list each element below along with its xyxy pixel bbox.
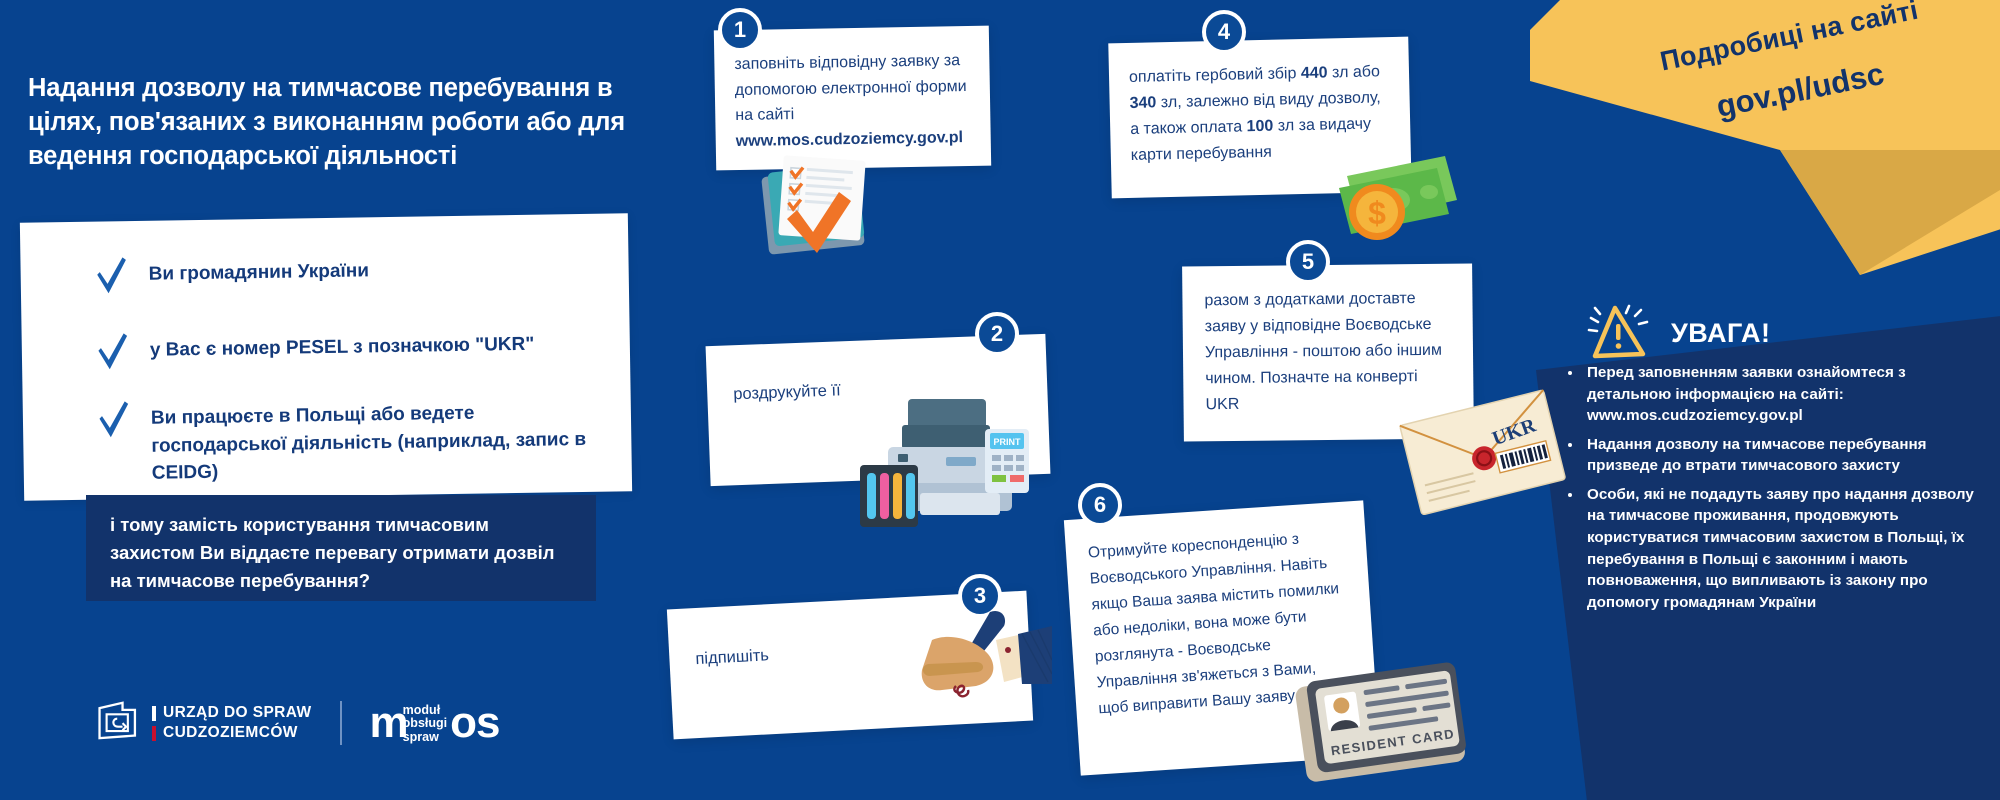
logo-bar: URZĄD DO SPRAW CUDZOZIEMCÓW m moduł obsł… (96, 700, 499, 746)
mos-logo-stack-1: moduł (403, 704, 447, 718)
attention-title: УВАГА! (1671, 318, 1771, 349)
attention-bullet-list: Перед заповненням заявки ознайомтеся з д… (1565, 362, 1990, 620)
step-badge-6: 6 (1078, 483, 1122, 527)
checklist-item: у Вас є номер PESEL з позначкою "UKR" (96, 323, 617, 376)
resident-card-icon: RESIDENT CARD (1290, 660, 1475, 785)
step-badge-1: 1 (718, 8, 762, 52)
page-title: Надання дозволу на тимчасове перебування… (28, 72, 628, 174)
step-badge-2: 2 (975, 312, 1019, 356)
mos-logo-m: m (370, 705, 407, 741)
step-badge-5: 5 (1286, 240, 1330, 284)
checkmark-icon (96, 331, 151, 377)
printer-icon: PRINT (860, 395, 1040, 530)
mos-logo: m moduł obsługi spraw os (370, 702, 500, 745)
checkmark-icon (94, 255, 149, 301)
envelope-ukr-icon: UKR (1390, 385, 1570, 515)
question-box: і тому замість користування тимчасовим з… (86, 495, 596, 601)
mos-logo-stack-3: spraw (403, 731, 447, 745)
checklist-item: Ви громадянин України (94, 248, 595, 301)
attention-bullet: Надання дозволу на тимчасове перебування… (1583, 434, 1990, 477)
attention-bullet: Особи, які не подадуть заяву про надання… (1583, 484, 1990, 613)
udsc-logo-line2: CUDZOZIEMCÓW (163, 724, 298, 742)
mos-logo-os: os (450, 705, 499, 741)
step-card-1: заповніть відповідну заявку за допомогою… (714, 26, 991, 171)
udsc-bar-white (152, 706, 156, 721)
money-coin-icon: $ (1325, 140, 1465, 250)
checklist-item: Ви працюєте в Польщі або ведете господар… (97, 392, 598, 488)
udsc-bar-red (152, 726, 156, 741)
attention-bullet: Перед заповненням заявки ознайомтеся з д… (1583, 362, 1990, 427)
checklist-item-label: Ви працюєте в Польщі або ведете господар… (151, 392, 598, 488)
infographic-canvas: Подробиці на сайті gov.pl/udsc Надання д… (0, 0, 2000, 800)
eligibility-card: Ви громадянин України у Вас є номер PESE… (20, 213, 632, 501)
udsc-logo: URZĄD DO SPRAW CUDZOZIEMCÓW (96, 700, 312, 746)
hand-signing-pen-icon (872, 600, 1052, 730)
mos-logo-stack: moduł obsługi spraw (403, 704, 447, 745)
attention-header: УВАГА! (1585, 300, 1771, 367)
logo-divider (340, 701, 342, 745)
warning-triangle-icon (1585, 300, 1653, 367)
mos-logo-stack-2: obsługi (403, 717, 447, 731)
step-badge-4: 4 (1202, 10, 1246, 54)
checklist-item-label: Ви громадянин України (148, 251, 369, 288)
printer-print-label: PRINT (994, 437, 1022, 447)
checkmark-icon (97, 399, 152, 445)
checklist-clipboard-icon (745, 150, 895, 260)
svg-text:$: $ (1368, 195, 1386, 231)
checklist-item-label: у Вас є номер PESEL з позначкою "UKR" (150, 325, 535, 365)
udsc-emblem-icon (96, 700, 142, 746)
udsc-logo-line1: URZĄD DO SPRAW (163, 704, 312, 722)
